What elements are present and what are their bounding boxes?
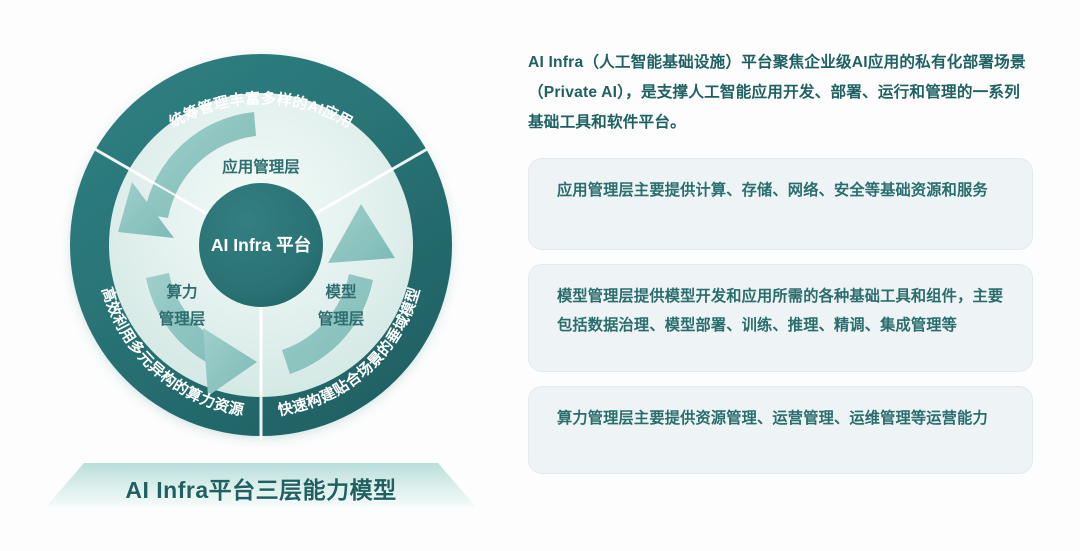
three-layer-capability-ring: AI Infra 平台 应用管理层 算力 管理层 模型 管理层 统筹管理丰富多样… — [58, 42, 464, 448]
compute-layer-card-text: 算力管理层主要提供资源管理、运营管理、运维管理等运营能力 — [557, 404, 1010, 433]
description-panel: AI Infra（人工智能基础设施）平台聚焦企业级AI应用的私有化部署场景（Pr… — [528, 48, 1040, 474]
circular-diagram-panel: AI Infra 平台 应用管理层 算力 管理层 模型 管理层 统筹管理丰富多样… — [0, 0, 510, 551]
model-layer-card-text: 模型管理层提供模型开发和应用所需的各种基础工具和组件，主要包括数据治理、模型部署… — [557, 282, 1010, 340]
sector-label-compute-line1: 算力 — [166, 282, 197, 301]
sector-label-application: 应用管理层 — [222, 157, 300, 176]
application-layer-card-text: 应用管理层主要提供计算、存储、网络、安全等基础资源和服务 — [557, 176, 1010, 205]
infographic-root: AI Infra 平台 应用管理层 算力 管理层 模型 管理层 统筹管理丰富多样… — [0, 0, 1080, 551]
ribbon-title: AI Infra平台三层能力模型 — [46, 468, 476, 508]
compute-layer-card: 算力管理层主要提供资源管理、运营管理、运维管理等运营能力 — [528, 386, 1033, 474]
intro-paragraph: AI Infra（人工智能基础设施）平台聚焦企业级AI应用的私有化部署场景（Pr… — [528, 48, 1033, 138]
sector-label-compute-line2: 管理层 — [159, 309, 206, 328]
application-layer-card: 应用管理层主要提供计算、存储、网络、安全等基础资源和服务 — [528, 158, 1033, 250]
center-label: AI Infra 平台 — [211, 235, 311, 255]
model-layer-card: 模型管理层提供模型开发和应用所需的各种基础工具和组件，主要包括数据治理、模型部署… — [528, 264, 1033, 372]
sector-label-model-line1: 模型 — [325, 282, 357, 301]
sector-label-model-line2: 管理层 — [318, 309, 365, 328]
